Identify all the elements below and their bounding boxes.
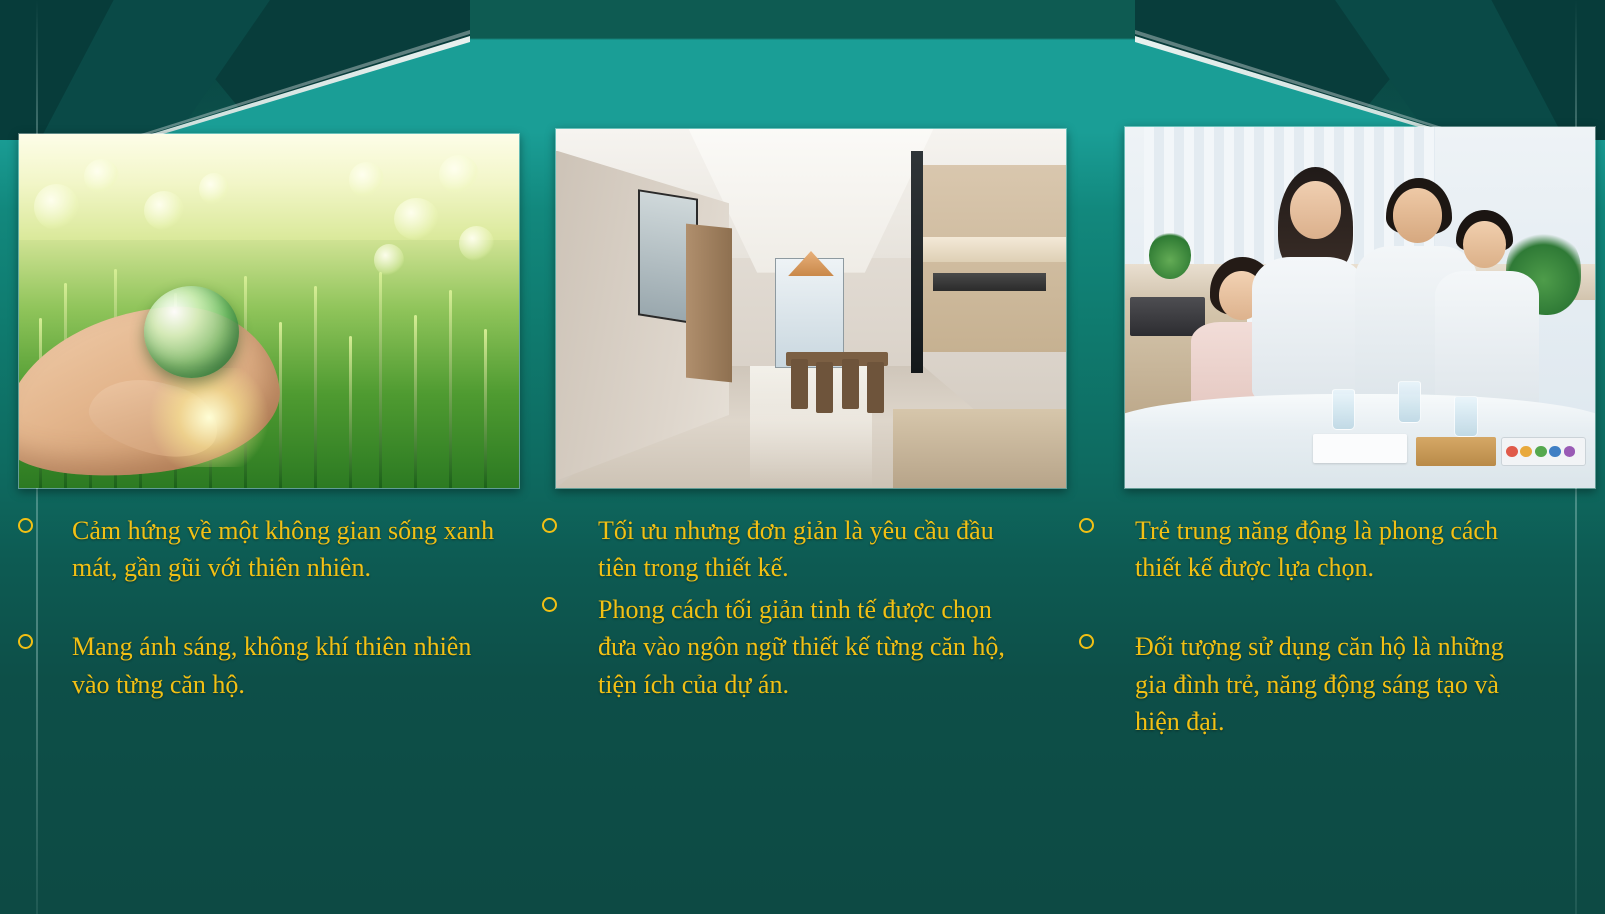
- bullet-circle-icon: [542, 518, 557, 533]
- corner-facet-top-left: [0, 0, 470, 140]
- bullet-circle-icon: [18, 634, 33, 649]
- bullet-circle-icon: [1079, 518, 1094, 533]
- image-green-nature-hand-globe: [18, 133, 520, 489]
- bullet-text: Tối ưu nhưng đơn giản là yêu cầu đầu tiê…: [598, 516, 994, 582]
- bullet-circle-icon: [18, 518, 33, 533]
- list-item: Phong cách tối giản tinh tế được chọn đư…: [528, 591, 1028, 741]
- list-item: Cảm hứng về một không gian sống xanh mát…: [10, 512, 510, 624]
- image-apartment-interior-corridor: [555, 128, 1067, 489]
- slide-canvas: Cảm hứng về một không gian sống xanh mát…: [0, 0, 1605, 914]
- bullet-text: Đối tượng sử dụng căn hộ là những gia đì…: [1135, 632, 1540, 773]
- bullet-columns: Cảm hứng về một không gian sống xanh mát…: [0, 512, 1605, 772]
- bullet-circle-icon: [1079, 634, 1094, 649]
- bullet-list-1: Cảm hứng về một không gian sống xanh mát…: [10, 512, 510, 741]
- bullet-list-2: Tối ưu nhưng đơn giản là yêu cầu đầu tiê…: [528, 512, 1028, 741]
- column-target-audience: Trẻ trung năng động là phong cách thiết …: [1065, 512, 1540, 782]
- bullet-text: Mang ánh sáng, không khí thiên nhiên vào…: [72, 632, 510, 736]
- column-design-style: Tối ưu nhưng đơn giản là yêu cầu đầu tiê…: [528, 512, 1028, 745]
- image-family-at-table: [1124, 126, 1596, 489]
- list-item: Đối tượng sử dụng căn hộ là những gia đì…: [1065, 628, 1540, 778]
- corner-facet-top-right: [1135, 0, 1605, 140]
- bullet-circle-icon: [542, 597, 557, 612]
- list-item: Mang ánh sáng, không khí thiên nhiên vào…: [10, 628, 510, 740]
- list-item: Trẻ trung năng động là phong cách thiết …: [1065, 512, 1540, 624]
- bullet-text: Phong cách tối giản tinh tế được chọn đư…: [598, 595, 1028, 736]
- list-item: Tối ưu nhưng đơn giản là yêu cầu đầu tiê…: [528, 512, 1028, 587]
- bullet-list-3: Trẻ trung năng động là phong cách thiết …: [1065, 512, 1540, 778]
- bullet-text: Cảm hứng về một không gian sống xanh mát…: [72, 516, 510, 620]
- column-green-living: Cảm hứng về một không gian sống xanh mát…: [10, 512, 510, 745]
- bullet-text: Trẻ trung năng động là phong cách thiết …: [1135, 516, 1540, 620]
